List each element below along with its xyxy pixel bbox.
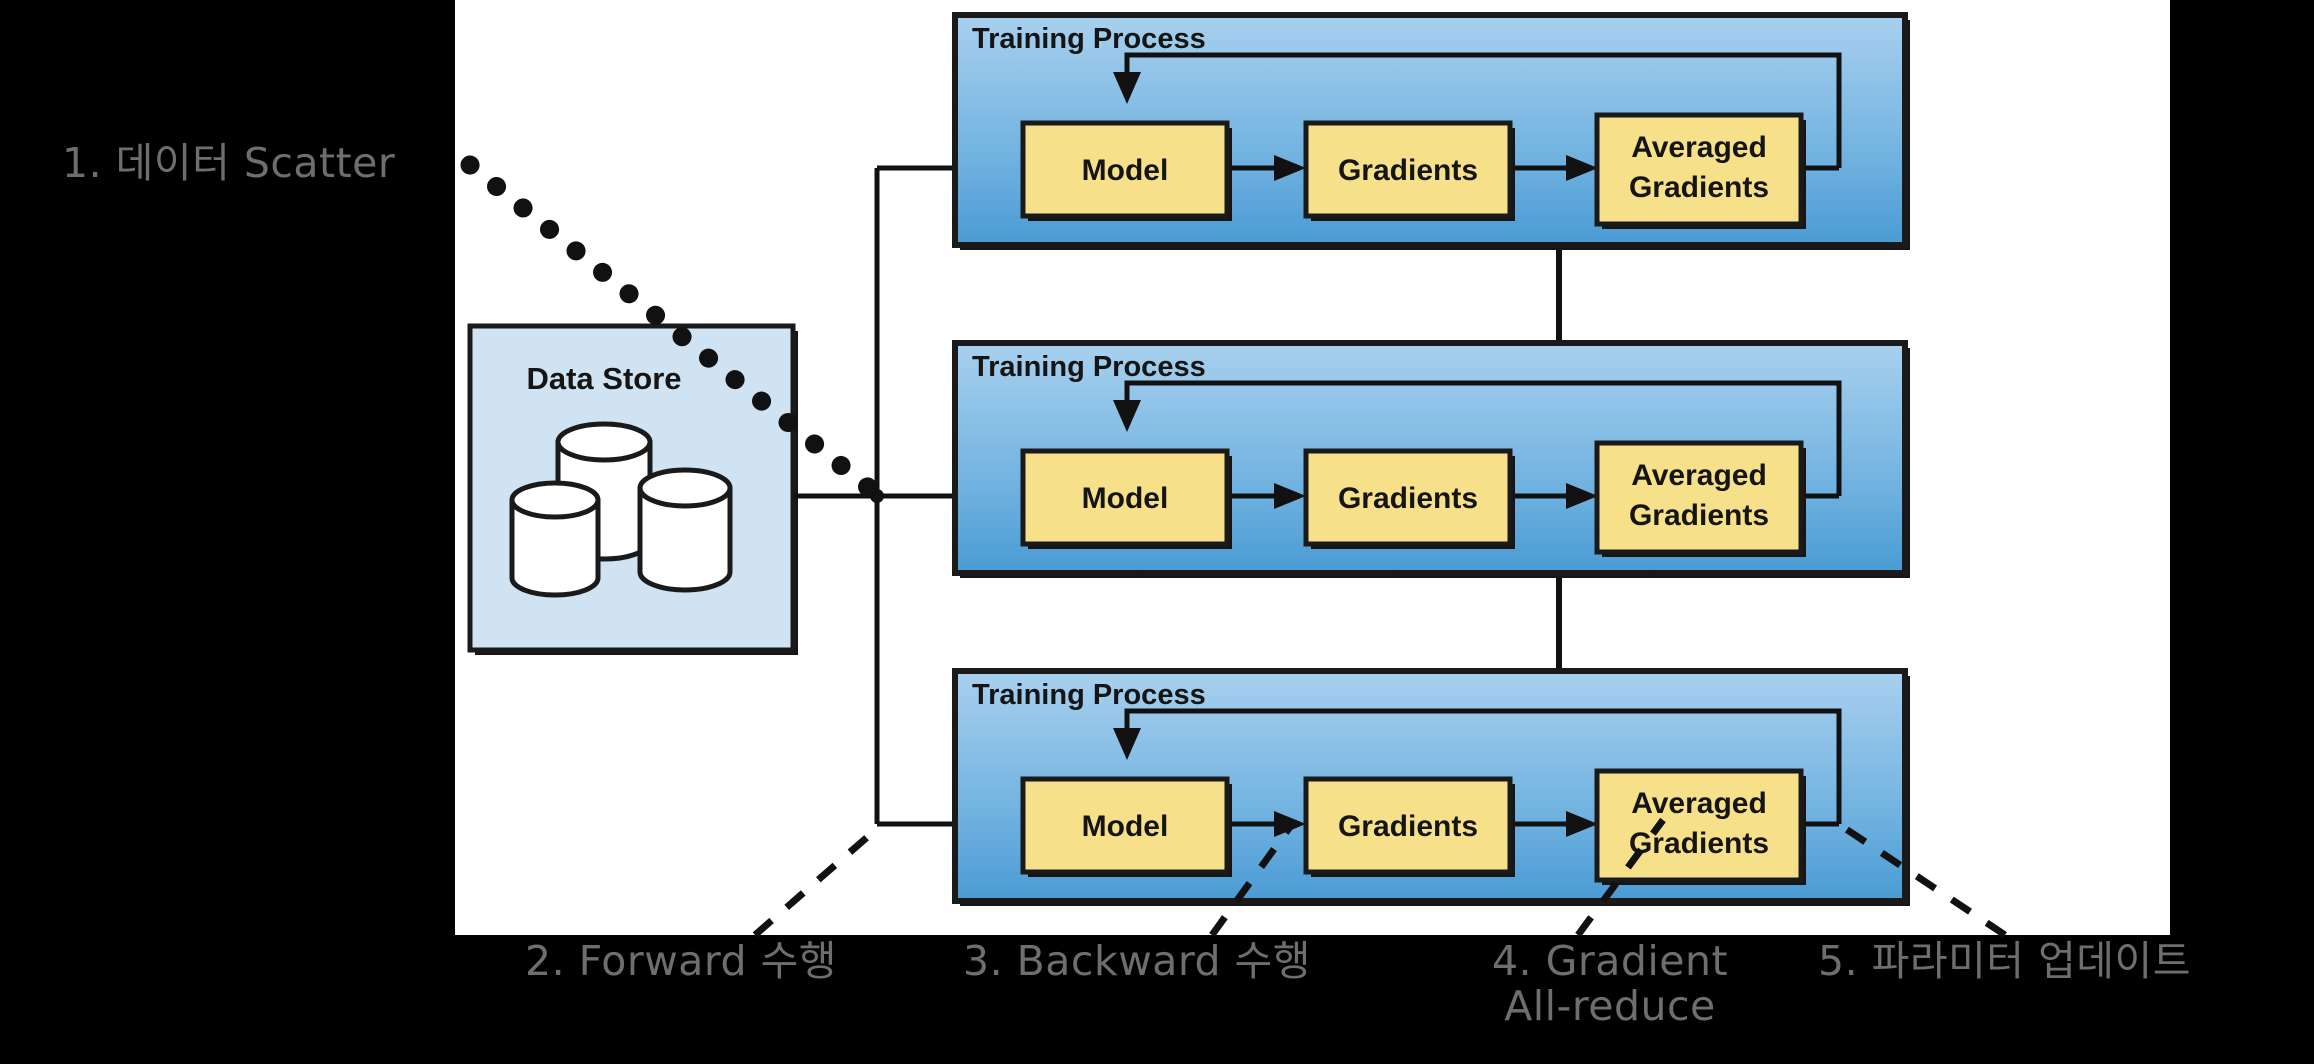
training-process-1[interactable]: Training Process Model	[955, 15, 1910, 250]
annotation-step-4: 4. Gradient All-reduce	[1470, 940, 1750, 1028]
node-averaged-gradients-2[interactable]: Averaged Gradients	[1597, 443, 1806, 557]
node-model-3[interactable]: Model	[1023, 779, 1232, 877]
node-label: Model	[1082, 810, 1169, 843]
training-process-3[interactable]: Training Process Model	[955, 671, 1910, 906]
annotation-step-5-text: 5. 파라미터 업데이트	[1818, 937, 2191, 985]
node-label-line1: Averaged	[1631, 459, 1767, 492]
node-label: Model	[1082, 482, 1169, 515]
training-process-2[interactable]: Training Process Model	[955, 343, 1910, 578]
node-label-line1: Averaged	[1631, 131, 1767, 164]
node-label-line1: Averaged	[1631, 787, 1767, 820]
node-gradients-3[interactable]: Gradients	[1306, 779, 1515, 877]
node-label-line2: Gradients	[1629, 827, 1769, 860]
node-gradients-1[interactable]: Gradients	[1306, 123, 1515, 221]
annotation-step-5: 5. 파라미터 업데이트	[1818, 940, 2191, 983]
data-store-box[interactable]: Data Store	[470, 326, 798, 655]
annotation-step-1-text: 1. 데이터 Scatter	[62, 139, 395, 187]
annotation-step-4-text-line2: All-reduce	[1470, 985, 1750, 1028]
data-store-title: Data Store	[526, 361, 681, 396]
annotation-step-2-text: 2. Forward 수행	[525, 937, 837, 985]
node-label: Model	[1082, 154, 1169, 187]
node-label: Gradients	[1338, 810, 1478, 843]
node-averaged-gradients-1[interactable]: Averaged Gradients	[1597, 115, 1806, 229]
node-label: Gradients	[1338, 154, 1478, 187]
slide-canvas: Data Store	[0, 0, 2314, 1064]
training-process-title: Training Process	[972, 679, 1206, 711]
annotation-step-4-text: 4. Gradient	[1470, 940, 1750, 983]
node-model-1[interactable]: Model	[1023, 123, 1232, 221]
node-label-line2: Gradients	[1629, 499, 1769, 532]
annotation-step-3-text: 3. Backward 수행	[963, 937, 1311, 985]
node-label: Gradients	[1338, 482, 1478, 515]
node-gradients-2[interactable]: Gradients	[1306, 451, 1515, 549]
training-process-title: Training Process	[972, 351, 1206, 383]
node-label-line2: Gradients	[1629, 171, 1769, 204]
annotation-step-2: 2. Forward 수행	[525, 940, 837, 983]
node-averaged-gradients-3[interactable]: Averaged Gradients	[1597, 771, 1806, 885]
annotation-step-3: 3. Backward 수행	[963, 940, 1311, 983]
annotation-step-1: 1. 데이터 Scatter	[62, 142, 395, 185]
training-process-title: Training Process	[972, 23, 1206, 55]
node-model-2[interactable]: Model	[1023, 451, 1232, 549]
